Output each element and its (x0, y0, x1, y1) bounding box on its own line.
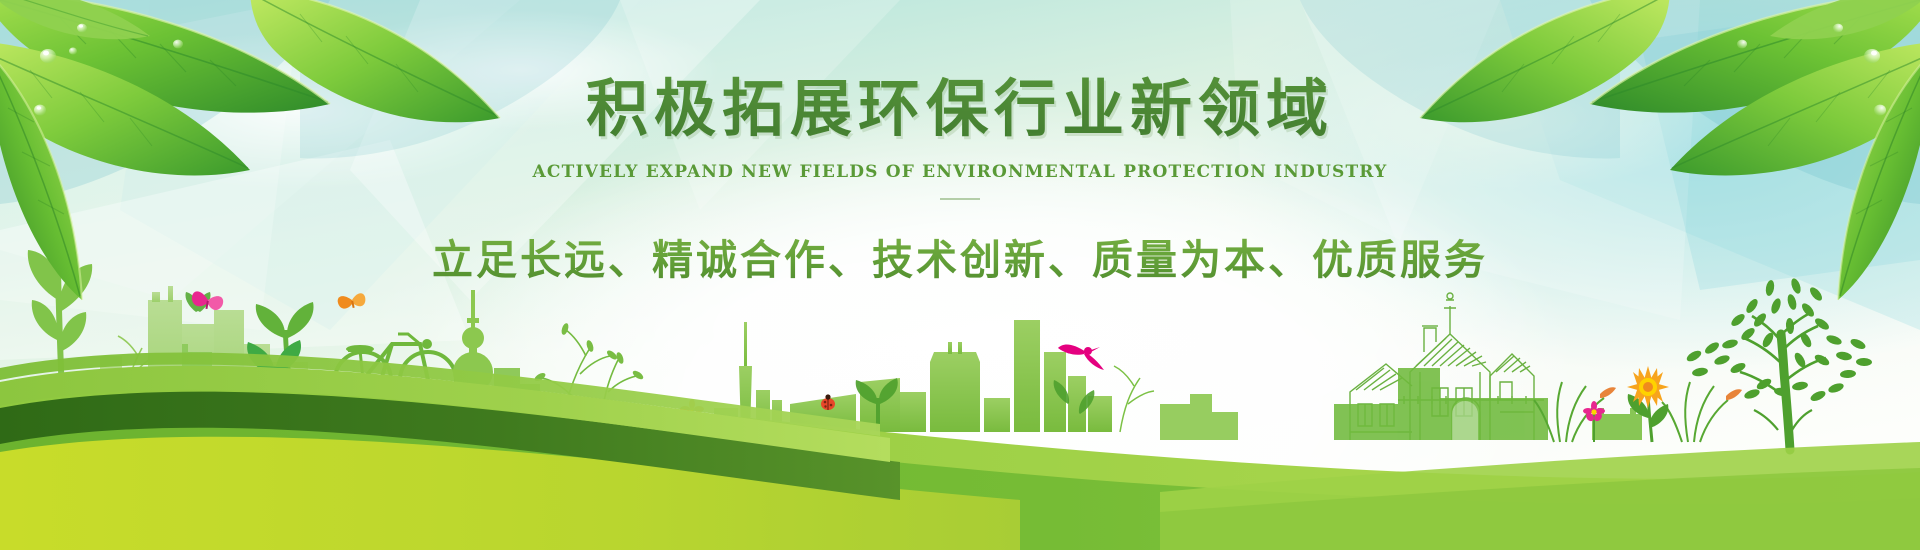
leaf-cluster-icon (0, 0, 1920, 550)
eco-banner: 积极拓展环保行业新领域 ACTIVELY EXPAND NEW FIELDS O… (0, 0, 1920, 550)
